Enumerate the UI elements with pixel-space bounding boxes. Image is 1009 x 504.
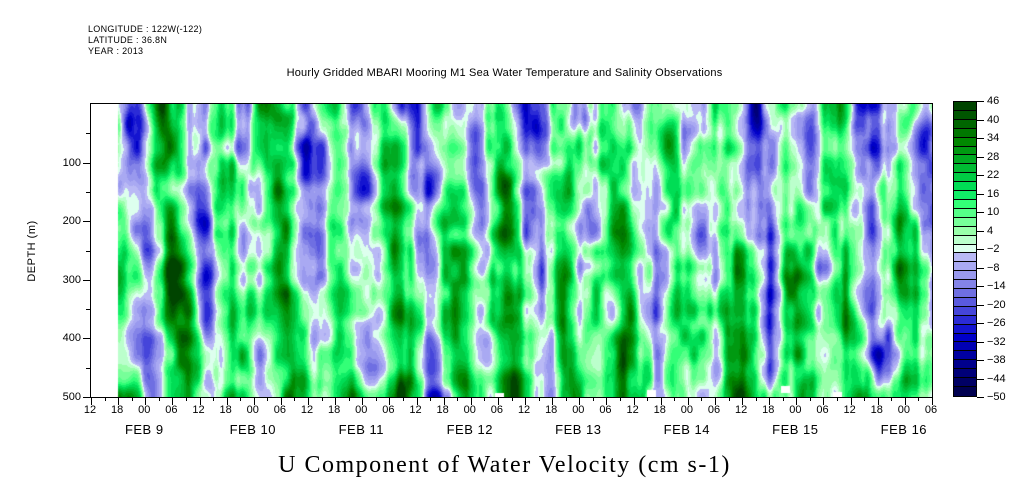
x-tick-minor (186, 397, 187, 401)
colorbar-band (954, 271, 976, 280)
x-hour-label: 06 (599, 404, 611, 416)
colorbar-band (954, 102, 976, 111)
x-hour-label: 12 (735, 404, 747, 416)
colorbar-band (954, 316, 976, 325)
x-hour-label: 00 (138, 404, 150, 416)
colorbar-tick (977, 249, 984, 250)
x-tick-minor (430, 397, 431, 401)
colorbar-tick (977, 231, 984, 232)
y-tick-major (83, 280, 91, 281)
colorbar-label: 4 (987, 225, 993, 237)
x-hour-label: 06 (708, 404, 720, 416)
y-tick-major (83, 221, 91, 222)
y-tick-major (83, 397, 91, 398)
colorbar-label: 16 (987, 188, 999, 200)
colorbar-band (954, 147, 976, 156)
colorbar-tick (977, 323, 984, 324)
x-tick-minor (539, 397, 540, 401)
colorbar-band (954, 129, 976, 138)
y-axis-label: 300 (63, 274, 81, 286)
year-text: YEAR : 2013 (88, 46, 143, 57)
colorbar-tick (977, 138, 984, 139)
x-tick-minor (918, 397, 919, 401)
x-hour-label: 06 (925, 404, 937, 416)
y-tick-minor (86, 368, 91, 369)
x-hour-label: 18 (654, 404, 666, 416)
colorbar-band (954, 120, 976, 129)
colorbar-label: 40 (987, 114, 999, 126)
y-tick-minor (86, 309, 91, 310)
colorbar-band (954, 387, 976, 396)
colorbar-tick (977, 268, 984, 269)
colorbar-band (954, 227, 976, 236)
x-tick-minor (864, 397, 865, 401)
x-hour-label: 00 (355, 404, 367, 416)
colorbar-band (954, 369, 976, 378)
x-hour-label: 18 (437, 404, 449, 416)
colorbar-band (954, 307, 976, 316)
colorbar-tick (977, 305, 984, 306)
longitude-text: LONGITUDE : 122W(-122) (88, 24, 202, 35)
y-axis-label: 500 (63, 391, 81, 403)
y-axis-label: 200 (63, 215, 81, 227)
x-tick-minor (457, 397, 458, 401)
latitude-text: LATITUDE : 36.8N (88, 35, 167, 46)
colorbar-band (954, 191, 976, 200)
x-tick-minor (322, 397, 323, 401)
x-hour-label: 06 (165, 404, 177, 416)
x-hour-label: 12 (84, 404, 96, 416)
x-tick-minor (674, 397, 675, 401)
x-date-label: FEB 15 (772, 422, 818, 437)
colorbar-band (954, 236, 976, 245)
x-tick-minor (484, 397, 485, 401)
x-tick-minor (620, 397, 621, 401)
colorbar-label: −2 (987, 243, 1000, 255)
x-tick-minor (240, 397, 241, 401)
x-date-label: FEB 16 (881, 422, 927, 437)
x-hour-label: 12 (192, 404, 204, 416)
x-hour-label: 00 (789, 404, 801, 416)
colorbar-band (954, 351, 976, 360)
x-date-label: FEB 12 (447, 422, 493, 437)
y-axis-label: 100 (63, 157, 81, 169)
x-tick-minor (403, 397, 404, 401)
x-tick-minor (566, 397, 567, 401)
x-hour-label: 12 (843, 404, 855, 416)
colorbar-band (954, 360, 976, 369)
x-tick-minor (647, 397, 648, 401)
x-hour-label: 00 (464, 404, 476, 416)
colorbar-tick (977, 101, 984, 102)
x-tick-minor (837, 397, 838, 401)
colorbar-tick (977, 286, 984, 287)
x-hour-label: 06 (274, 404, 286, 416)
colorbar-band (954, 280, 976, 289)
x-tick-minor (376, 397, 377, 401)
x-date-label: FEB 14 (664, 422, 710, 437)
colorbar-band (954, 262, 976, 271)
velocity-heatmap (91, 104, 932, 397)
colorbar-tick (977, 194, 984, 195)
colorbar-band (954, 253, 976, 262)
x-hour-label: 00 (572, 404, 584, 416)
x-tick-minor (729, 397, 730, 401)
y-tick-major (83, 338, 91, 339)
x-date-label: FEB 13 (555, 422, 601, 437)
colorbar-band (954, 218, 976, 227)
colorbar-label: −44 (987, 373, 1006, 385)
x-hour-label: 18 (762, 404, 774, 416)
y-tick-minor (86, 192, 91, 193)
x-hour-label: 18 (328, 404, 340, 416)
x-tick-minor (132, 397, 133, 401)
colorbar-label: −14 (987, 280, 1006, 292)
colorbar-band (954, 334, 976, 343)
y-tick-minor (86, 133, 91, 134)
colorbar-label: 34 (987, 132, 999, 144)
x-tick-minor (783, 397, 784, 401)
colorbar-tick (977, 397, 984, 398)
colorbar-band (954, 164, 976, 173)
colorbar-tick (977, 379, 984, 380)
colorbar-band (954, 209, 976, 218)
x-tick-minor (756, 397, 757, 401)
plot-area: 100200300400500 (90, 103, 933, 398)
colorbar-label: 10 (987, 206, 999, 218)
colorbar-tick (977, 212, 984, 213)
x-hour-label: 18 (871, 404, 883, 416)
chart-title: Hourly Gridded MBARI Mooring M1 Sea Wate… (0, 67, 1009, 79)
y-axis-label: 400 (63, 332, 81, 344)
x-tick-minor (105, 397, 106, 401)
plot-page: LONGITUDE : 122W(-122) LATITUDE : 36.8N … (0, 0, 1009, 504)
colorbar-band (954, 245, 976, 254)
colorbar-tick (977, 360, 984, 361)
colorbar-tick (977, 120, 984, 121)
y-tick-minor (86, 251, 91, 252)
x-hour-label: 12 (301, 404, 313, 416)
colorbar-tick (977, 342, 984, 343)
colorbar-label: −32 (987, 336, 1006, 348)
x-hour-label: 12 (409, 404, 421, 416)
x-hour-label: 12 (626, 404, 638, 416)
x-tick-minor (349, 397, 350, 401)
colorbar-label: −26 (987, 317, 1006, 329)
colorbar-band (954, 289, 976, 298)
x-date-label: FEB 11 (339, 422, 384, 437)
x-tick-minor (159, 397, 160, 401)
x-hour-label: 18 (111, 404, 123, 416)
x-date-label: FEB 9 (125, 422, 164, 437)
x-tick-minor (213, 397, 214, 401)
x-hour-label: 06 (382, 404, 394, 416)
colorbar-band (954, 155, 976, 164)
colorbar-band (954, 138, 976, 147)
x-tick-minor (267, 397, 268, 401)
x-hour-label: 06 (491, 404, 503, 416)
colorbar-label: −50 (987, 391, 1006, 403)
x-hour-label: 06 (816, 404, 828, 416)
y-tick-major (83, 163, 91, 164)
colorbar-label: 46 (987, 95, 999, 107)
colorbar-band (954, 378, 976, 387)
x-tick-minor (294, 397, 295, 401)
colorbar-label: −20 (987, 299, 1006, 311)
colorbar-label: −38 (987, 354, 1006, 366)
colorbar-band (954, 173, 976, 182)
colorbar-band (954, 111, 976, 120)
x-hour-label: 18 (220, 404, 232, 416)
x-tick-minor (701, 397, 702, 401)
colorbar-label: 28 (987, 151, 999, 163)
colorbar-tick (977, 157, 984, 158)
x-hour-label: 12 (518, 404, 530, 416)
x-tick-minor (891, 397, 892, 401)
bottom-title: U Component of Water Velocity (cm s-1) (0, 452, 1009, 479)
colorbar-band (954, 200, 976, 209)
colorbar-band (954, 342, 976, 351)
colorbar-band (954, 325, 976, 334)
colorbar-band (954, 182, 976, 191)
colorbar-label: 22 (987, 169, 999, 181)
x-hour-label: 18 (545, 404, 557, 416)
x-date-label: FEB 10 (230, 422, 276, 437)
x-hour-label: 00 (681, 404, 693, 416)
x-hour-label: 00 (898, 404, 910, 416)
x-tick-minor (810, 397, 811, 401)
colorbar-label: −8 (987, 262, 1000, 274)
x-hour-label: 00 (247, 404, 259, 416)
x-tick-minor (512, 397, 513, 401)
y-axis-title: DEPTH (m) (26, 220, 38, 281)
colorbar (953, 101, 977, 397)
x-tick-minor (593, 397, 594, 401)
colorbar-tick (977, 175, 984, 176)
colorbar-band (954, 298, 976, 307)
